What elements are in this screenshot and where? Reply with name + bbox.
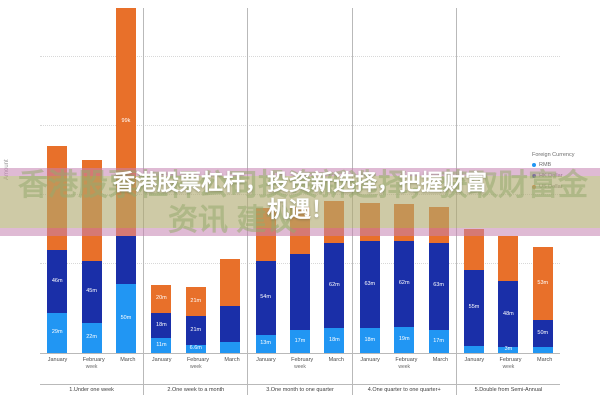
legend-item[interactable]: US Dollar (532, 184, 596, 190)
stacked-bar[interactable]: 48m3m (498, 236, 518, 353)
bar-group: 46m29m45m22m99k50m (40, 8, 144, 353)
bar-segment[interactable]: 62m (324, 243, 344, 329)
bar-segment[interactable]: 11m (151, 338, 171, 353)
bar-segment[interactable]: 63m (360, 241, 380, 328)
bar-segment[interactable]: 6.6m (186, 345, 206, 353)
bar-segment[interactable]: 17m (290, 330, 310, 353)
bar-value-label: 17m (433, 339, 444, 345)
bar-segment[interactable]: 48m (498, 281, 518, 347)
bar-value-label: 63m (433, 283, 444, 289)
bar-segment[interactable] (220, 259, 240, 306)
chart-screenshot: 200m 150m 100m 50m 0m Amount 46m29m45m22… (0, 0, 600, 400)
bar-segment[interactable]: 19m (394, 327, 414, 353)
x-axis-group-label: 4.One quarter to one quarter+ (353, 384, 456, 393)
bar-value-label: 99k (122, 119, 131, 125)
stacked-bar[interactable]: 17m (290, 207, 310, 353)
x-axis-month-label: January (465, 357, 485, 363)
legend-item-label: US Dollar (539, 184, 563, 190)
bar-segment[interactable]: 21m (186, 287, 206, 316)
bar-segment[interactable]: 18m (360, 328, 380, 353)
x-axis-month-label: March (433, 357, 448, 363)
bar-segment[interactable] (220, 306, 240, 342)
bar-segment[interactable]: 50m (116, 284, 136, 353)
x-axis-month-label: January (152, 357, 172, 363)
bar-value-label: 13m (260, 341, 271, 347)
bar-value-label: 45m (86, 289, 97, 295)
bar-value-label: 11m (156, 343, 166, 349)
x-axis-month-label: March (537, 357, 552, 363)
bar-value-label: 6.6m (190, 346, 202, 352)
legend: Foreign Currency RMBHK DollarUS Dollar (532, 152, 596, 195)
bar-segment[interactable] (47, 146, 67, 250)
x-axis-group: JanuaryFebruaryMarchweek5.Double from Se… (457, 354, 560, 395)
bar-value-label: 63m (364, 282, 375, 288)
bar-value-label: 21m (190, 328, 201, 334)
bar-segment[interactable] (360, 203, 380, 242)
x-axis-group-label: 5.Double from Semi-Annual (457, 384, 560, 393)
stacked-bar[interactable]: 55m (464, 229, 484, 353)
bar-segment[interactable]: 50m (533, 320, 553, 348)
bar-segment[interactable]: 13m (256, 335, 276, 353)
bar-segment[interactable]: 53m (533, 247, 553, 320)
x-axis-month-label: March (224, 357, 239, 363)
y-axis-label: Amount (4, 159, 10, 180)
bar-value-label: 55m (469, 305, 480, 311)
x-axis-sublabel: week (457, 363, 560, 370)
bar-segment[interactable] (220, 342, 240, 353)
bar-value-label: 18m (329, 338, 340, 344)
bar-value-label: 54m (260, 295, 271, 301)
x-axis-sublabel: week (40, 363, 143, 370)
bar-value-label: 18m (364, 338, 375, 344)
x-axis: JanuaryFebruaryMarchweek1.Under one week… (40, 353, 560, 395)
stacked-bar[interactable]: 99k50m (116, 8, 136, 353)
bar-segment[interactable]: 99k (116, 8, 136, 236)
bar-segment[interactable] (290, 207, 310, 254)
x-axis-group: JanuaryFebruaryMarchweek2.One week to a … (144, 354, 248, 395)
bar-segment[interactable]: 22m (82, 323, 102, 353)
bar-value-label: 29m (52, 330, 63, 336)
bar-segment[interactable] (290, 254, 310, 330)
bar-groups: 46m29m45m22m99k50m20m18m11m21m21m6.6m54m… (40, 8, 560, 353)
bar-segment[interactable] (464, 229, 484, 270)
bar-segment[interactable]: 55m (464, 270, 484, 346)
bar-group: 20m18m11m21m21m6.6m (144, 8, 248, 353)
bar-segment[interactable] (116, 236, 136, 284)
bar-value-label: 20m (156, 296, 167, 302)
bar-value-label: 62m (399, 281, 410, 287)
x-axis-sublabel: week (248, 363, 351, 370)
legend-swatch-icon (532, 185, 536, 189)
bar-segment[interactable]: 20m (151, 285, 171, 313)
stacked-bar[interactable]: 53m50m (533, 247, 553, 353)
x-axis-group: JanuaryFebruaryMarchweek4.One quarter to… (353, 354, 457, 395)
bar-segment[interactable]: 18m (151, 313, 171, 338)
stacked-bar[interactable]: 20m18m11m (151, 285, 171, 353)
bar-segment[interactable] (498, 236, 518, 282)
stacked-bar[interactable]: 62m19m (394, 204, 414, 353)
stacked-bar[interactable]: 62m18m (324, 201, 344, 353)
stacked-bar[interactable]: 63m17m (429, 207, 449, 353)
bar-value-label: 19m (399, 337, 410, 343)
bar-segment[interactable]: 54m (256, 261, 276, 336)
x-axis-group-label: 2.One week to a month (144, 384, 247, 393)
bar-group: 63m18m62m19m63m17m (353, 8, 457, 353)
bar-segment[interactable] (324, 201, 344, 242)
bar-segment[interactable]: 63m (429, 243, 449, 330)
stacked-bar[interactable]: 46m29m (47, 146, 67, 353)
legend-item-label: RMB (539, 162, 551, 168)
bar-segment[interactable] (464, 346, 484, 353)
x-axis-month-label: January (48, 357, 68, 363)
bar-segment[interactable] (256, 208, 276, 260)
bar-segment[interactable] (82, 160, 102, 261)
bar-value-label: 46m (52, 279, 63, 285)
bar-segment[interactable]: 21m (186, 316, 206, 345)
bar-value-label: 50m (537, 331, 548, 337)
bar-segment[interactable]: 29m (47, 313, 67, 353)
bar-segment[interactable]: 45m (82, 261, 102, 323)
legend-swatch-icon (532, 163, 536, 167)
stacked-bar[interactable] (220, 259, 240, 353)
bar-value-label: 18m (156, 323, 167, 329)
bar-value-label: 22m (86, 335, 97, 341)
x-axis-month-label: March (120, 357, 135, 363)
bar-group: 54m13m17m62m18m (248, 8, 352, 353)
bar-value-label: 62m (329, 283, 340, 289)
legend-item[interactable]: RMB (532, 162, 596, 168)
x-axis-month-label: January (256, 357, 276, 363)
stacked-bar[interactable]: 45m22m (82, 160, 102, 353)
bar-value-label: 53m (537, 281, 548, 287)
stacked-bar[interactable]: 63m18m (360, 203, 380, 353)
x-axis-group: JanuaryFebruaryMarchweek1.Under one week (40, 354, 144, 395)
legend-items: RMBHK DollarUS Dollar (532, 162, 596, 190)
stacked-bar[interactable]: 21m21m6.6m (186, 287, 206, 353)
legend-item-label: HK Dollar (539, 173, 563, 179)
x-axis-month-label: January (360, 357, 380, 363)
x-axis-group: JanuaryFebruaryMarchweek3.One month to o… (248, 354, 352, 395)
x-axis-month-label: March (329, 357, 344, 363)
x-axis-month-label: February (291, 357, 313, 363)
bar-value-label: 21m (190, 299, 201, 305)
bar-value-label: 48m (503, 312, 514, 318)
bar-segment[interactable] (429, 207, 449, 243)
x-axis-group-label: 1.Under one week (40, 384, 143, 393)
legend-title: Foreign Currency (532, 152, 596, 158)
x-axis-month-label: February (187, 357, 209, 363)
x-axis-month-label: February (500, 357, 522, 363)
x-axis-sublabel: week (144, 363, 247, 370)
bar-value-label: 50m (121, 316, 132, 322)
x-axis-group-label: 3.One month to one quarter (248, 384, 351, 393)
bar-segment[interactable]: 18m (324, 328, 344, 353)
stacked-bar[interactable]: 54m13m (256, 208, 276, 353)
bar-segment[interactable]: 62m (394, 241, 414, 327)
x-axis-month-label: February (395, 357, 417, 363)
legend-swatch-icon (532, 174, 536, 178)
bar-segment[interactable] (394, 204, 414, 241)
x-axis-sublabel: week (353, 363, 456, 370)
x-axis-month-label: February (83, 357, 105, 363)
bar-segment[interactable]: 46m (47, 250, 67, 313)
bar-value-label: 17m (295, 339, 306, 345)
bar-segment[interactable]: 17m (429, 330, 449, 353)
legend-item[interactable]: HK Dollar (532, 173, 596, 179)
